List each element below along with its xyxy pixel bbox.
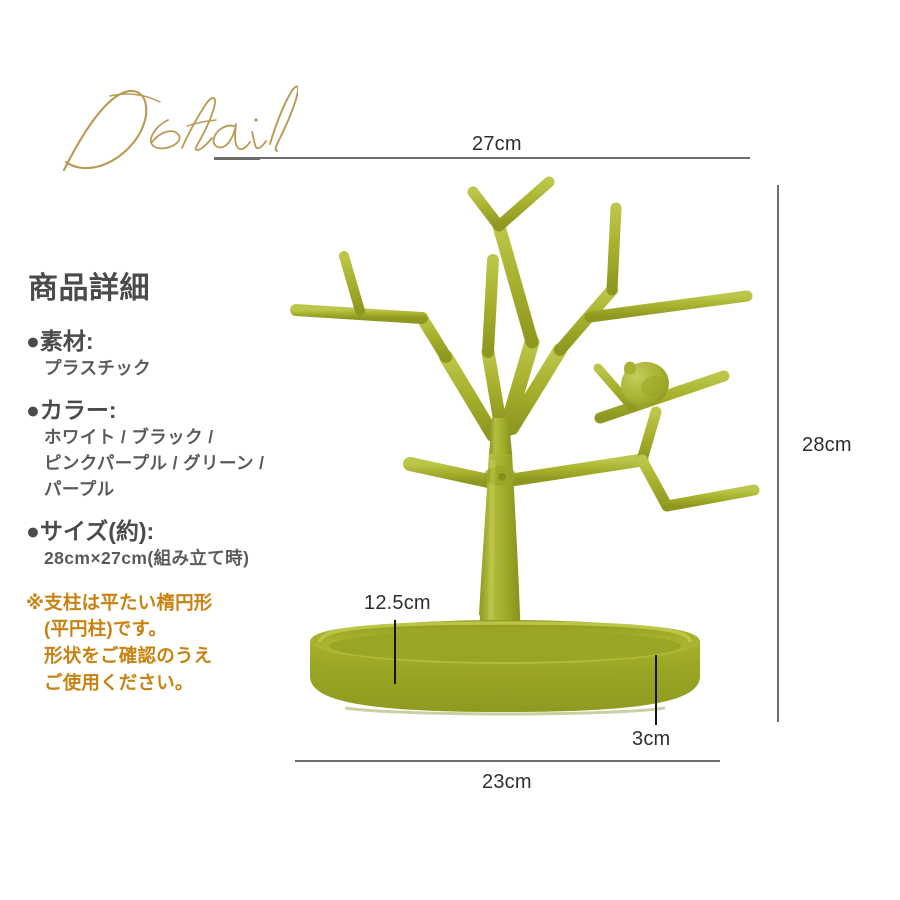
tree-branches	[296, 182, 754, 506]
dimension-line-top-width	[253, 157, 750, 159]
dimension-line-tray-width	[295, 760, 720, 762]
leader-line-tray-depth	[394, 620, 396, 684]
product-photo	[250, 160, 760, 740]
tray-base	[310, 620, 700, 714]
dimension-label-tray-depth: 12.5cm	[364, 592, 431, 615]
dimension-label-tray-width: 23cm	[482, 771, 532, 794]
dimension-label-top-width: 27cm	[472, 133, 522, 156]
product-detail-page: 商品詳細 ●素材: プラスチック ●カラー: ホワイト / ブラック / ピンク…	[0, 0, 900, 900]
dimension-label-height: 28cm	[802, 434, 852, 457]
leader-line-tray-height	[655, 655, 657, 725]
tree-jewelry-stand-illustration	[250, 160, 760, 740]
dimension-line-height	[777, 185, 779, 722]
dimension-label-tray-height: 3cm	[632, 728, 670, 751]
